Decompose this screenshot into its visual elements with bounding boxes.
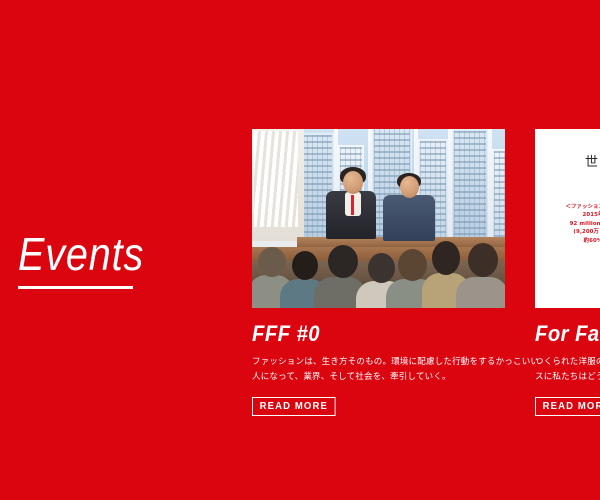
speaker-head	[343, 171, 363, 194]
poster-stat-line: 92 million tons	[547, 220, 600, 228]
speaker-head	[400, 176, 419, 198]
description-line: つくられた洋服の6	[535, 355, 600, 370]
event-card-description: ファッションは、生き方そのもの。環境に配慮した行動をするかっこいい 人になって、…	[252, 355, 502, 385]
audience-body	[456, 277, 505, 308]
audience-head	[432, 241, 460, 275]
page-title: Events	[18, 228, 190, 280]
audience-head	[258, 247, 286, 277]
event-card-thumbnail[interactable]	[252, 129, 505, 308]
event-card-thumbnail[interactable]: 世 ＜ファッション産業＞ 2015年 92 million tons (9,20…	[535, 129, 600, 308]
lanyard-icon	[351, 195, 354, 215]
event-card-title: FFF #0	[252, 322, 485, 346]
poster-stat-line: 2015年	[547, 211, 600, 219]
audience-head	[398, 249, 427, 281]
title-underline	[18, 286, 133, 289]
side-wall	[252, 129, 304, 241]
poster-stat-line: (9,200万トン)	[547, 228, 600, 236]
audience-head	[368, 253, 395, 283]
events-section: Events	[0, 0, 600, 500]
event-card-title: For Fashion	[535, 322, 600, 346]
window-mullion	[448, 129, 452, 247]
description-line: 人になって、業界、そして社会を、牽引していく。	[252, 370, 502, 385]
event-card[interactable]: FFF #0 ファッションは、生き方そのもの。環境に配慮した行動をするかっこいい…	[252, 129, 505, 416]
description-line: ファッションは、生き方そのもの。環境に配慮した行動をするかっこいい	[252, 355, 502, 370]
audience-head	[292, 251, 318, 280]
poster-slide-photo: 世 ＜ファッション産業＞ 2015年 92 million tons (9,20…	[535, 129, 600, 308]
read-more-button[interactable]: READ MORE	[535, 397, 600, 416]
talk-event-photo	[252, 129, 505, 308]
poster-stat-line: 約60%	[547, 237, 600, 245]
poster-heading: 世	[585, 151, 599, 170]
city-tower-icon	[452, 129, 488, 247]
audience-head	[328, 245, 358, 278]
curtain	[254, 131, 298, 227]
city-tower-icon	[492, 149, 505, 247]
window-mullion	[488, 129, 492, 247]
poster-stats: ＜ファッション産業＞ 2015年 92 million tons (9,200万…	[547, 203, 600, 245]
section-heading: Events	[18, 228, 218, 289]
event-card-description: つくられた洋服の6 スに私たちはどう立	[535, 355, 600, 385]
audience-head	[468, 243, 498, 277]
speaker-torso	[383, 195, 435, 241]
poster-stat-line: ＜ファッション産業＞	[547, 203, 600, 211]
description-line: スに私たちはどう立	[535, 370, 600, 385]
event-card[interactable]: 世 ＜ファッション産業＞ 2015年 92 million tons (9,20…	[535, 129, 600, 416]
read-more-button[interactable]: READ MORE	[252, 397, 336, 416]
